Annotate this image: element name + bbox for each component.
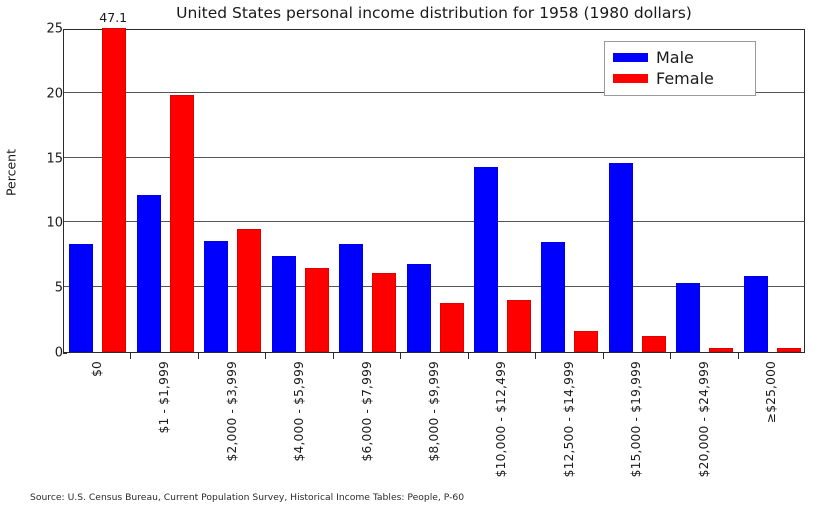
source-note: Source: U.S. Census Bureau, Current Popu…: [30, 492, 464, 503]
bar-female[interactable]: [305, 268, 329, 352]
bar-group: [137, 30, 194, 352]
x-axis-labels: $0$1 - $1,999$2,000 - $3,999$4,000 - $5,…: [63, 353, 805, 483]
bar-female[interactable]: [642, 336, 666, 352]
y-tick-label: 25: [17, 22, 63, 37]
bar-group: [69, 30, 126, 352]
bar-male[interactable]: [69, 244, 93, 352]
bar-female[interactable]: [372, 273, 396, 352]
bar-female[interactable]: [507, 300, 531, 352]
x-tick-label: $8,000 - $9,999: [427, 361, 441, 461]
bar-value-label: 47.1: [83, 10, 143, 25]
y-tick-label: 5: [17, 281, 63, 296]
bar-female[interactable]: [574, 331, 598, 352]
bar-group: [407, 30, 464, 352]
x-tick-label: $0: [90, 361, 104, 377]
legend-item-male[interactable]: Male: [613, 47, 747, 68]
x-tick-label: $2,000 - $3,999: [225, 361, 239, 461]
x-tick-label: $1 - $1,999: [157, 361, 171, 434]
x-tick-label: $20,000 - $24,999: [697, 361, 711, 477]
bar-male[interactable]: [407, 264, 431, 352]
bar-male[interactable]: [204, 241, 228, 352]
bar-female[interactable]: [102, 28, 126, 352]
y-tick-label: 0: [17, 346, 63, 361]
chart-figure: United States personal income distributi…: [0, 0, 819, 512]
bar-male[interactable]: [676, 283, 700, 352]
legend-swatch-icon: [613, 74, 648, 83]
bar-group: [339, 30, 396, 352]
x-tick-label: $10,000 - $12,499: [494, 361, 508, 477]
bar-female[interactable]: [237, 229, 261, 352]
bar-male[interactable]: [339, 244, 363, 352]
bar-group: [474, 30, 531, 352]
bar-male[interactable]: [744, 276, 768, 352]
legend-swatch-icon: [613, 53, 648, 62]
x-tick-label: ≥$25,000: [764, 361, 778, 423]
bar-female[interactable]: [709, 348, 733, 352]
x-tick-label: $12,500 - $14,999: [562, 361, 576, 477]
bar-male[interactable]: [541, 242, 565, 352]
legend-label: Male: [656, 50, 694, 66]
bar-group: [272, 30, 329, 352]
bar-female[interactable]: [440, 303, 464, 352]
x-tick-label: $15,000 - $19,999: [629, 361, 643, 477]
bar-male[interactable]: [474, 167, 498, 352]
bar-male[interactable]: [609, 163, 633, 352]
bar-female[interactable]: [170, 95, 194, 352]
bar-male[interactable]: [137, 195, 161, 352]
y-axis-ticks: 0510152025: [8, 29, 63, 353]
chart-legend[interactable]: MaleFemale: [604, 41, 756, 96]
x-tick-label: $6,000 - $7,999: [360, 361, 374, 461]
bar-female[interactable]: [777, 348, 801, 352]
y-tick-label: 15: [17, 151, 63, 166]
page-title: United States personal income distributi…: [63, 4, 805, 22]
bar-group: [541, 30, 598, 352]
bar-male[interactable]: [272, 256, 296, 352]
y-tick-label: 10: [17, 216, 63, 231]
legend-item-female[interactable]: Female: [613, 68, 747, 89]
y-tick-label: 20: [17, 86, 63, 101]
legend-label: Female: [656, 71, 714, 87]
bar-group: [204, 30, 261, 352]
x-tick-label: $4,000 - $5,999: [292, 361, 306, 461]
